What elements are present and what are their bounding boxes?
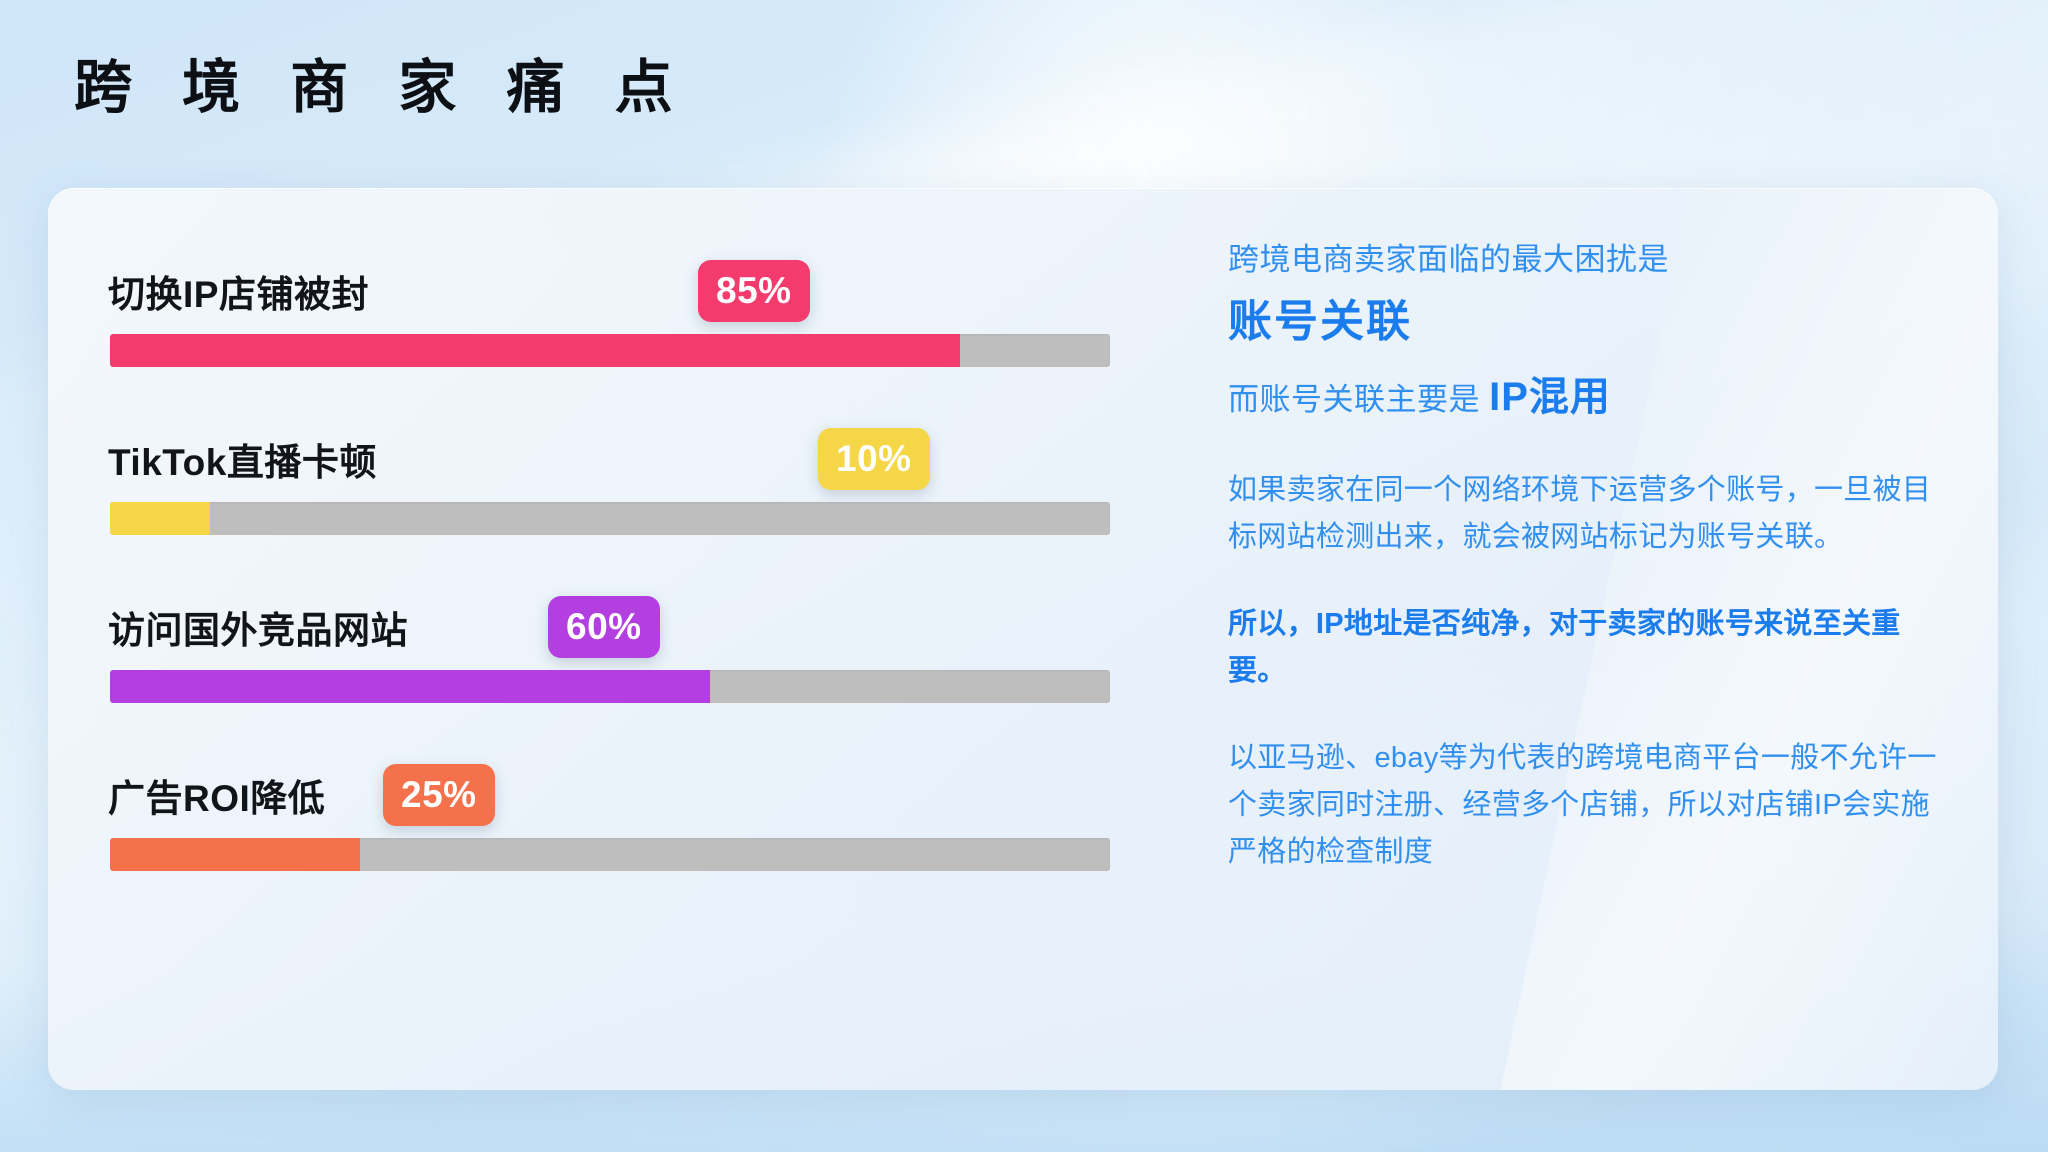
bar-value-badge: 25% (383, 764, 495, 826)
bar-fill (110, 502, 210, 535)
slide-canvas: 跨 境 商 家 痛 点 切换IP店铺被封 85% TikTok直播卡顿 10% (0, 0, 2048, 1152)
bar-fill (110, 838, 360, 871)
subheading-prefix: 而账号关联主要是 (1228, 382, 1480, 417)
lead-text: 跨境电商卖家面临的最大困扰是 (1228, 238, 1958, 283)
bar-track (110, 334, 1110, 367)
bar-header: 切换IP店铺被封 85% (108, 248, 1168, 334)
bar-label: 切换IP店铺被封 (108, 264, 369, 318)
bar-label: TikTok直播卡顿 (108, 432, 377, 486)
bar-track (110, 838, 1110, 871)
bar-header: 广告ROI降低 25% (108, 752, 1168, 838)
bar-row: 广告ROI降低 25% (108, 752, 1168, 920)
bar-row: 访问国外竞品网站 60% (108, 584, 1168, 752)
bar-label: 访问国外竞品网站 (108, 600, 408, 654)
bar-label: 广告ROI降低 (108, 768, 325, 822)
subheading-keyword: IP混用 (1489, 375, 1611, 419)
bar-header: TikTok直播卡顿 10% (108, 416, 1168, 502)
bar-row: TikTok直播卡顿 10% (108, 416, 1168, 584)
bar-value-badge: 60% (548, 596, 660, 658)
explanation-panel: 跨境电商卖家面临的最大困扰是 账号关联 而账号关联主要是 IP混用 如果卖家在同… (1228, 238, 1958, 876)
paragraph-two: 所以，IP地址是否纯净，对于卖家的账号来说至关重要。 (1228, 601, 1958, 695)
bar-fill (110, 334, 960, 367)
hero-keyword: 账号关联 (1228, 289, 1958, 355)
paragraph-one: 如果卖家在同一个网络环境下运营多个账号，一旦被目标网站检测出来，就会被网站标记为… (1228, 467, 1958, 561)
bar-fill (110, 670, 710, 703)
paragraph-three: 以亚马逊、ebay等为代表的跨境电商平台一般不允许一个卖家同时注册、经营多个店铺… (1228, 735, 1958, 876)
bar-track (110, 670, 1110, 703)
bar-value-badge: 10% (818, 428, 930, 490)
bar-row: 切换IP店铺被封 85% (108, 248, 1168, 416)
page-title: 跨 境 商 家 痛 点 (74, 56, 690, 120)
subheading: 而账号关联主要是 IP混用 (1228, 367, 1958, 427)
bar-header: 访问国外竞品网站 60% (108, 584, 1168, 670)
bar-track (110, 502, 1110, 535)
content-card: 切换IP店铺被封 85% TikTok直播卡顿 10% 访问国外竞品网站 (48, 188, 1998, 1090)
bar-value-badge: 85% (698, 260, 810, 322)
pain-point-bar-chart: 切换IP店铺被封 85% TikTok直播卡顿 10% 访问国外竞品网站 (108, 248, 1168, 920)
